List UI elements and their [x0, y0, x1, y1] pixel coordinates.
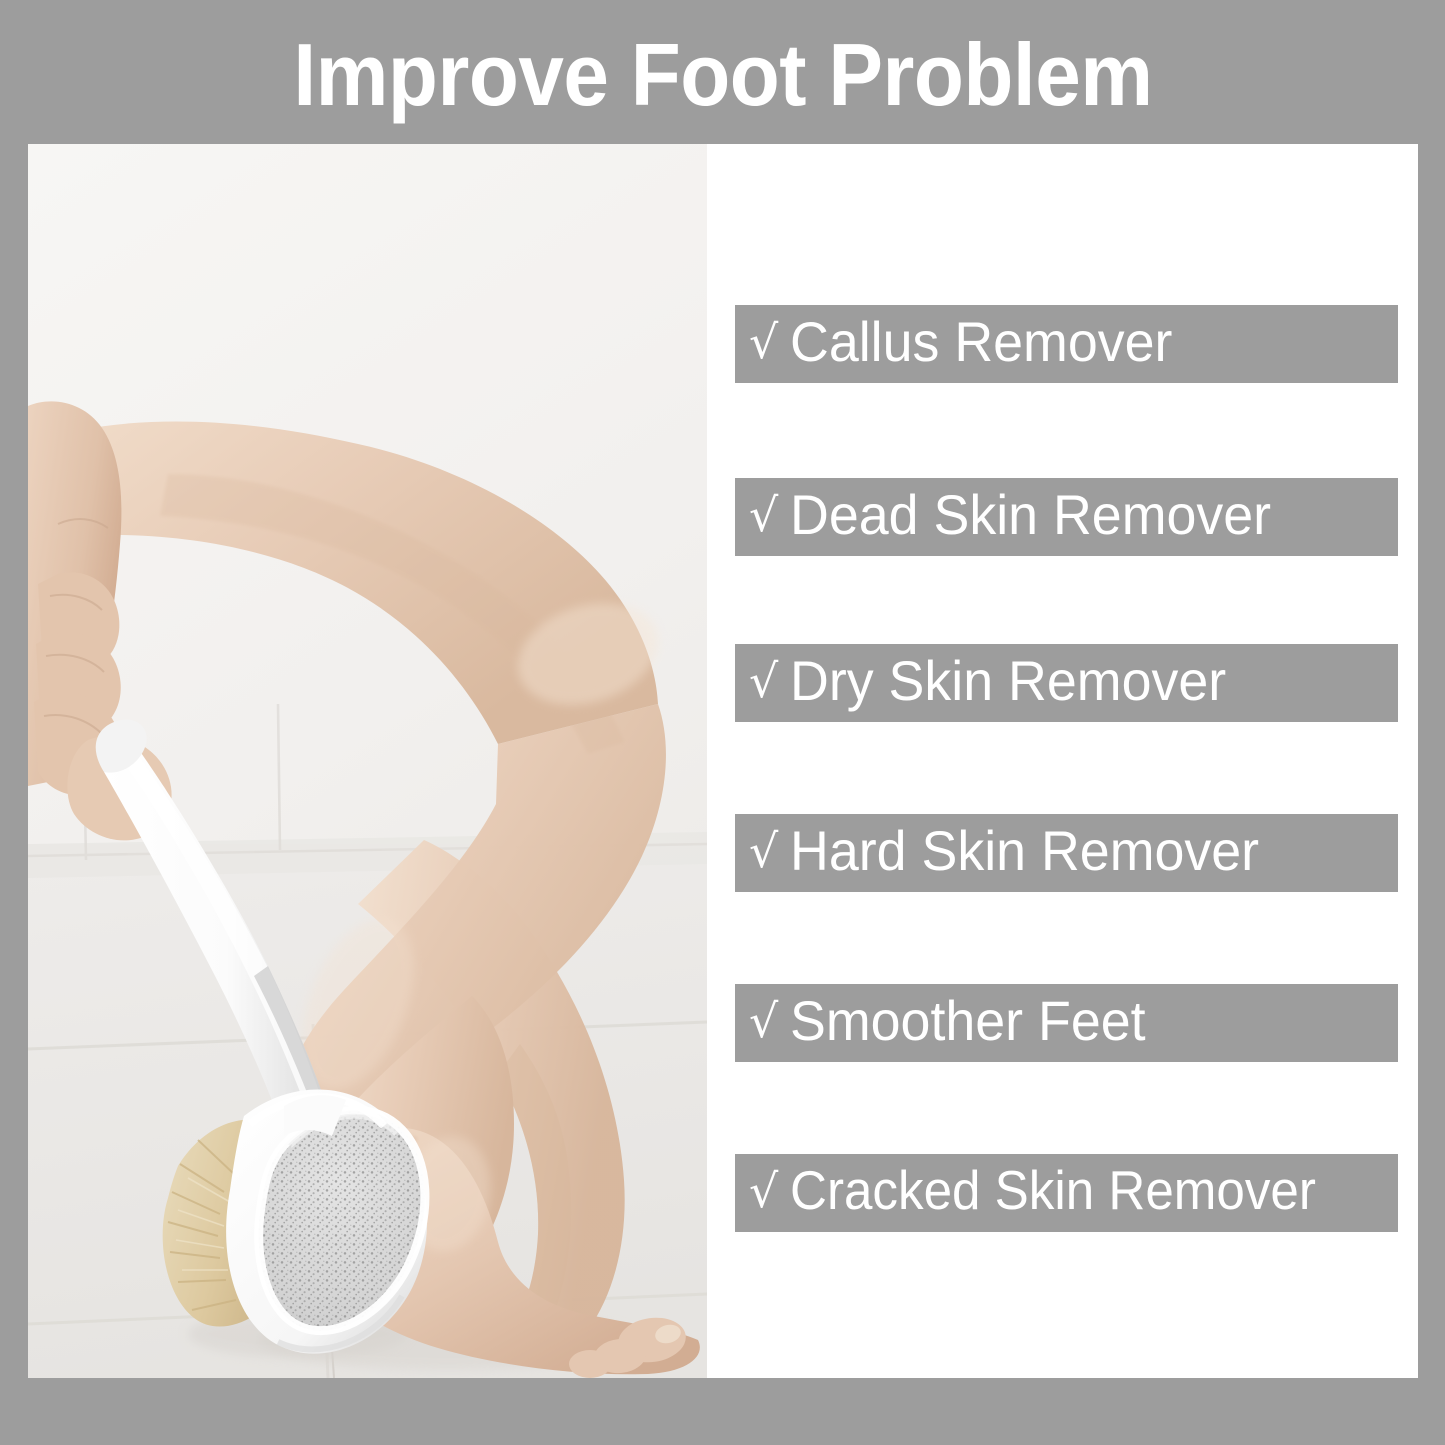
check-icon: √ — [749, 1168, 778, 1214]
check-icon: √ — [749, 492, 778, 538]
check-icon: √ — [749, 998, 778, 1044]
feature-item-hard-skin-remover: √ Hard Skin Remover — [735, 814, 1398, 892]
check-icon: √ — [749, 658, 778, 704]
page-title: Improve Foot Problem — [293, 25, 1152, 119]
product-photo — [28, 144, 707, 1378]
poster-header: Improve Foot Problem — [0, 0, 1445, 144]
feature-label: Hard Skin Remover — [790, 823, 1259, 884]
feature-label: Smoother Feet — [790, 993, 1146, 1054]
feature-label: Dead Skin Remover — [790, 487, 1271, 548]
feature-item-smoother-feet: √ Smoother Feet — [735, 984, 1398, 1062]
feature-label: Callus Remover — [790, 314, 1172, 375]
feature-item-callus-remover: √ Callus Remover — [735, 305, 1398, 383]
check-icon: √ — [749, 319, 778, 365]
content-card: √ Callus Remover √ Dead Skin Remover √ D… — [28, 144, 1418, 1378]
feature-item-dry-skin-remover: √ Dry Skin Remover — [735, 644, 1398, 722]
feature-item-cracked-skin-remover: √ Cracked Skin Remover — [735, 1154, 1398, 1232]
feature-list: √ Callus Remover √ Dead Skin Remover √ D… — [707, 144, 1418, 1378]
feature-label: Dry Skin Remover — [790, 653, 1226, 714]
product-infographic-poster: Improve Foot Problem — [0, 0, 1445, 1445]
feature-item-dead-skin-remover: √ Dead Skin Remover — [735, 478, 1398, 556]
feature-label: Cracked Skin Remover — [790, 1163, 1316, 1223]
check-icon: √ — [749, 828, 778, 874]
